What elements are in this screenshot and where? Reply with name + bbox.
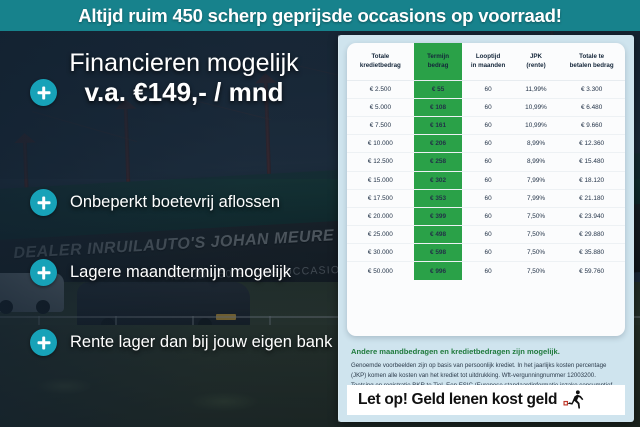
headline-line-2: v.a. €149,- / mnd [28,77,340,108]
warning-bar: Let op! Geld lenen kost geld [347,385,625,415]
feature-item-1: Onbeperkt boetevrij aflossen [30,189,346,216]
page-title: Financieren mogelijk v.a. €149,- / mnd [28,49,340,108]
cell-looptijd: 60 [462,80,513,98]
table-row: € 17.500€ 353607,99%€ 21.180 [347,189,625,207]
cell-krediet: € 7.500 [347,116,414,134]
cell-termijn: € 161 [414,116,463,134]
table-row: € 5.000€ 1086010,99%€ 6.480 [347,98,625,116]
cell-totaal: € 3.300 [558,80,625,98]
cell-totaal: € 29.880 [558,226,625,244]
table-row: € 15.000€ 302607,99%€ 18.120 [347,171,625,189]
cell-looptijd: 60 [462,153,513,171]
headline-line-1: Financieren mogelijk [28,49,340,77]
cell-jpk: 7,50% [514,207,558,225]
plus-icon [30,189,57,216]
top-banner: Altijd ruim 450 scherp geprijsde occasio… [0,0,640,31]
cell-totaal: € 35.880 [558,244,625,262]
cell-krediet: € 20.000 [347,207,414,225]
table-row: € 50.000€ 996607,50%€ 59.760 [347,262,625,280]
cell-termijn: € 302 [414,171,463,189]
cell-termijn: € 108 [414,98,463,116]
cell-termijn: € 353 [414,189,463,207]
cell-krediet: € 50.000 [347,262,414,280]
cell-looptijd: 60 [462,116,513,134]
table-row: € 30.000€ 598607,50%€ 35.880 [347,244,625,262]
cell-looptijd: 60 [462,207,513,225]
cell-krediet: € 5.000 [347,98,414,116]
running-person-icon [563,389,585,411]
cell-totaal: € 15.480 [558,153,625,171]
feature-item-label: Lagere maandtermijn mogelijk [70,263,291,282]
advertisement-banner: DEALER INRUILAUTO'S JOHAN MEURE ALTIJD 4… [0,0,640,427]
plus-icon [30,259,57,286]
cell-termijn: € 55 [414,80,463,98]
table-row: € 20.000€ 399607,50%€ 23.940 [347,207,625,225]
table-row: € 12.500€ 258608,99%€ 15.480 [347,153,625,171]
table-row: € 2.500€ 556011,99%€ 3.300 [347,80,625,98]
cell-looptijd: 60 [462,98,513,116]
rates-table: Totalekredietbedrag Termijnbedrag Loopti… [347,43,625,280]
cell-looptijd: 60 [462,135,513,153]
cell-looptijd: 60 [462,189,513,207]
cell-totaal: € 59.760 [558,262,625,280]
cell-totaal: € 9.660 [558,116,625,134]
feature-item-label: Rente lager dan bij jouw eigen bank [70,333,332,352]
rates-table-body: € 2.500€ 556011,99%€ 3.300€ 5.000€ 10860… [347,80,625,280]
col-header-jpk: JPK(rente) [514,43,558,80]
cell-krediet: € 30.000 [347,244,414,262]
col-header-looptijd: Looptijdin maanden [462,43,513,80]
cell-jpk: 7,99% [514,189,558,207]
cell-looptijd: 60 [462,226,513,244]
cell-jpk: 10,99% [514,98,558,116]
finance-info-panel: Totalekredietbedrag Termijnbedrag Loopti… [338,35,634,422]
feature-item-3: Rente lager dan bij jouw eigen bank [30,329,346,356]
cell-jpk: 8,99% [514,153,558,171]
cell-jpk: 7,99% [514,171,558,189]
feature-item-2: Lagere maandtermijn mogelijk [30,259,346,286]
cell-krediet: € 25.000 [347,226,414,244]
plus-icon [30,329,57,356]
table-row: € 10.000€ 206608,99%€ 12.360 [347,135,625,153]
cell-looptijd: 60 [462,262,513,280]
top-banner-text: Altijd ruim 450 scherp geprijsde occasio… [78,5,562,27]
feature-item-label: Onbeperkt boetevrij aflossen [70,193,280,212]
cell-krediet: € 15.000 [347,171,414,189]
plus-icon [30,79,57,106]
cell-krediet: € 17.500 [347,189,414,207]
cell-krediet: € 2.500 [347,80,414,98]
cell-jpk: 7,50% [514,244,558,262]
col-header-termijn: Termijnbedrag [414,43,463,80]
cell-termijn: € 206 [414,135,463,153]
cell-termijn: € 498 [414,226,463,244]
cell-jpk: 10,99% [514,116,558,134]
cell-totaal: € 18.120 [558,171,625,189]
cell-totaal: € 6.480 [558,98,625,116]
cell-jpk: 11,99% [514,80,558,98]
cell-termijn: € 399 [414,207,463,225]
cell-looptijd: 60 [462,244,513,262]
cell-termijn: € 598 [414,244,463,262]
cell-jpk: 7,50% [514,262,558,280]
table-row: € 7.500€ 1616010,99%€ 9.660 [347,116,625,134]
cell-termijn: € 258 [414,153,463,171]
cell-totaal: € 21.180 [558,189,625,207]
cell-jpk: 8,99% [514,135,558,153]
cell-totaal: € 12.360 [558,135,625,153]
rates-table-card: Totalekredietbedrag Termijnbedrag Loopti… [347,43,625,336]
col-header-krediet: Totalekredietbedrag [347,43,414,80]
table-row: € 25.000€ 498607,50%€ 29.880 [347,226,625,244]
cell-jpk: 7,50% [514,226,558,244]
features-column: Financieren mogelijk v.a. €149,- / mnd O… [0,31,348,427]
cell-looptijd: 60 [462,171,513,189]
col-header-totaal: Totale tebetalen bedrag [558,43,625,80]
warning-text: Let op! Geld lenen kost geld [358,391,557,409]
cell-termijn: € 996 [414,262,463,280]
disclaimer-title: Andere maandbedragen en kredietbedragen … [351,347,619,356]
cell-krediet: € 10.000 [347,135,414,153]
table-header-row: Totalekredietbedrag Termijnbedrag Loopti… [347,43,625,80]
cell-krediet: € 12.500 [347,153,414,171]
rates-table-head: Totalekredietbedrag Termijnbedrag Loopti… [347,43,625,80]
cell-totaal: € 23.940 [558,207,625,225]
